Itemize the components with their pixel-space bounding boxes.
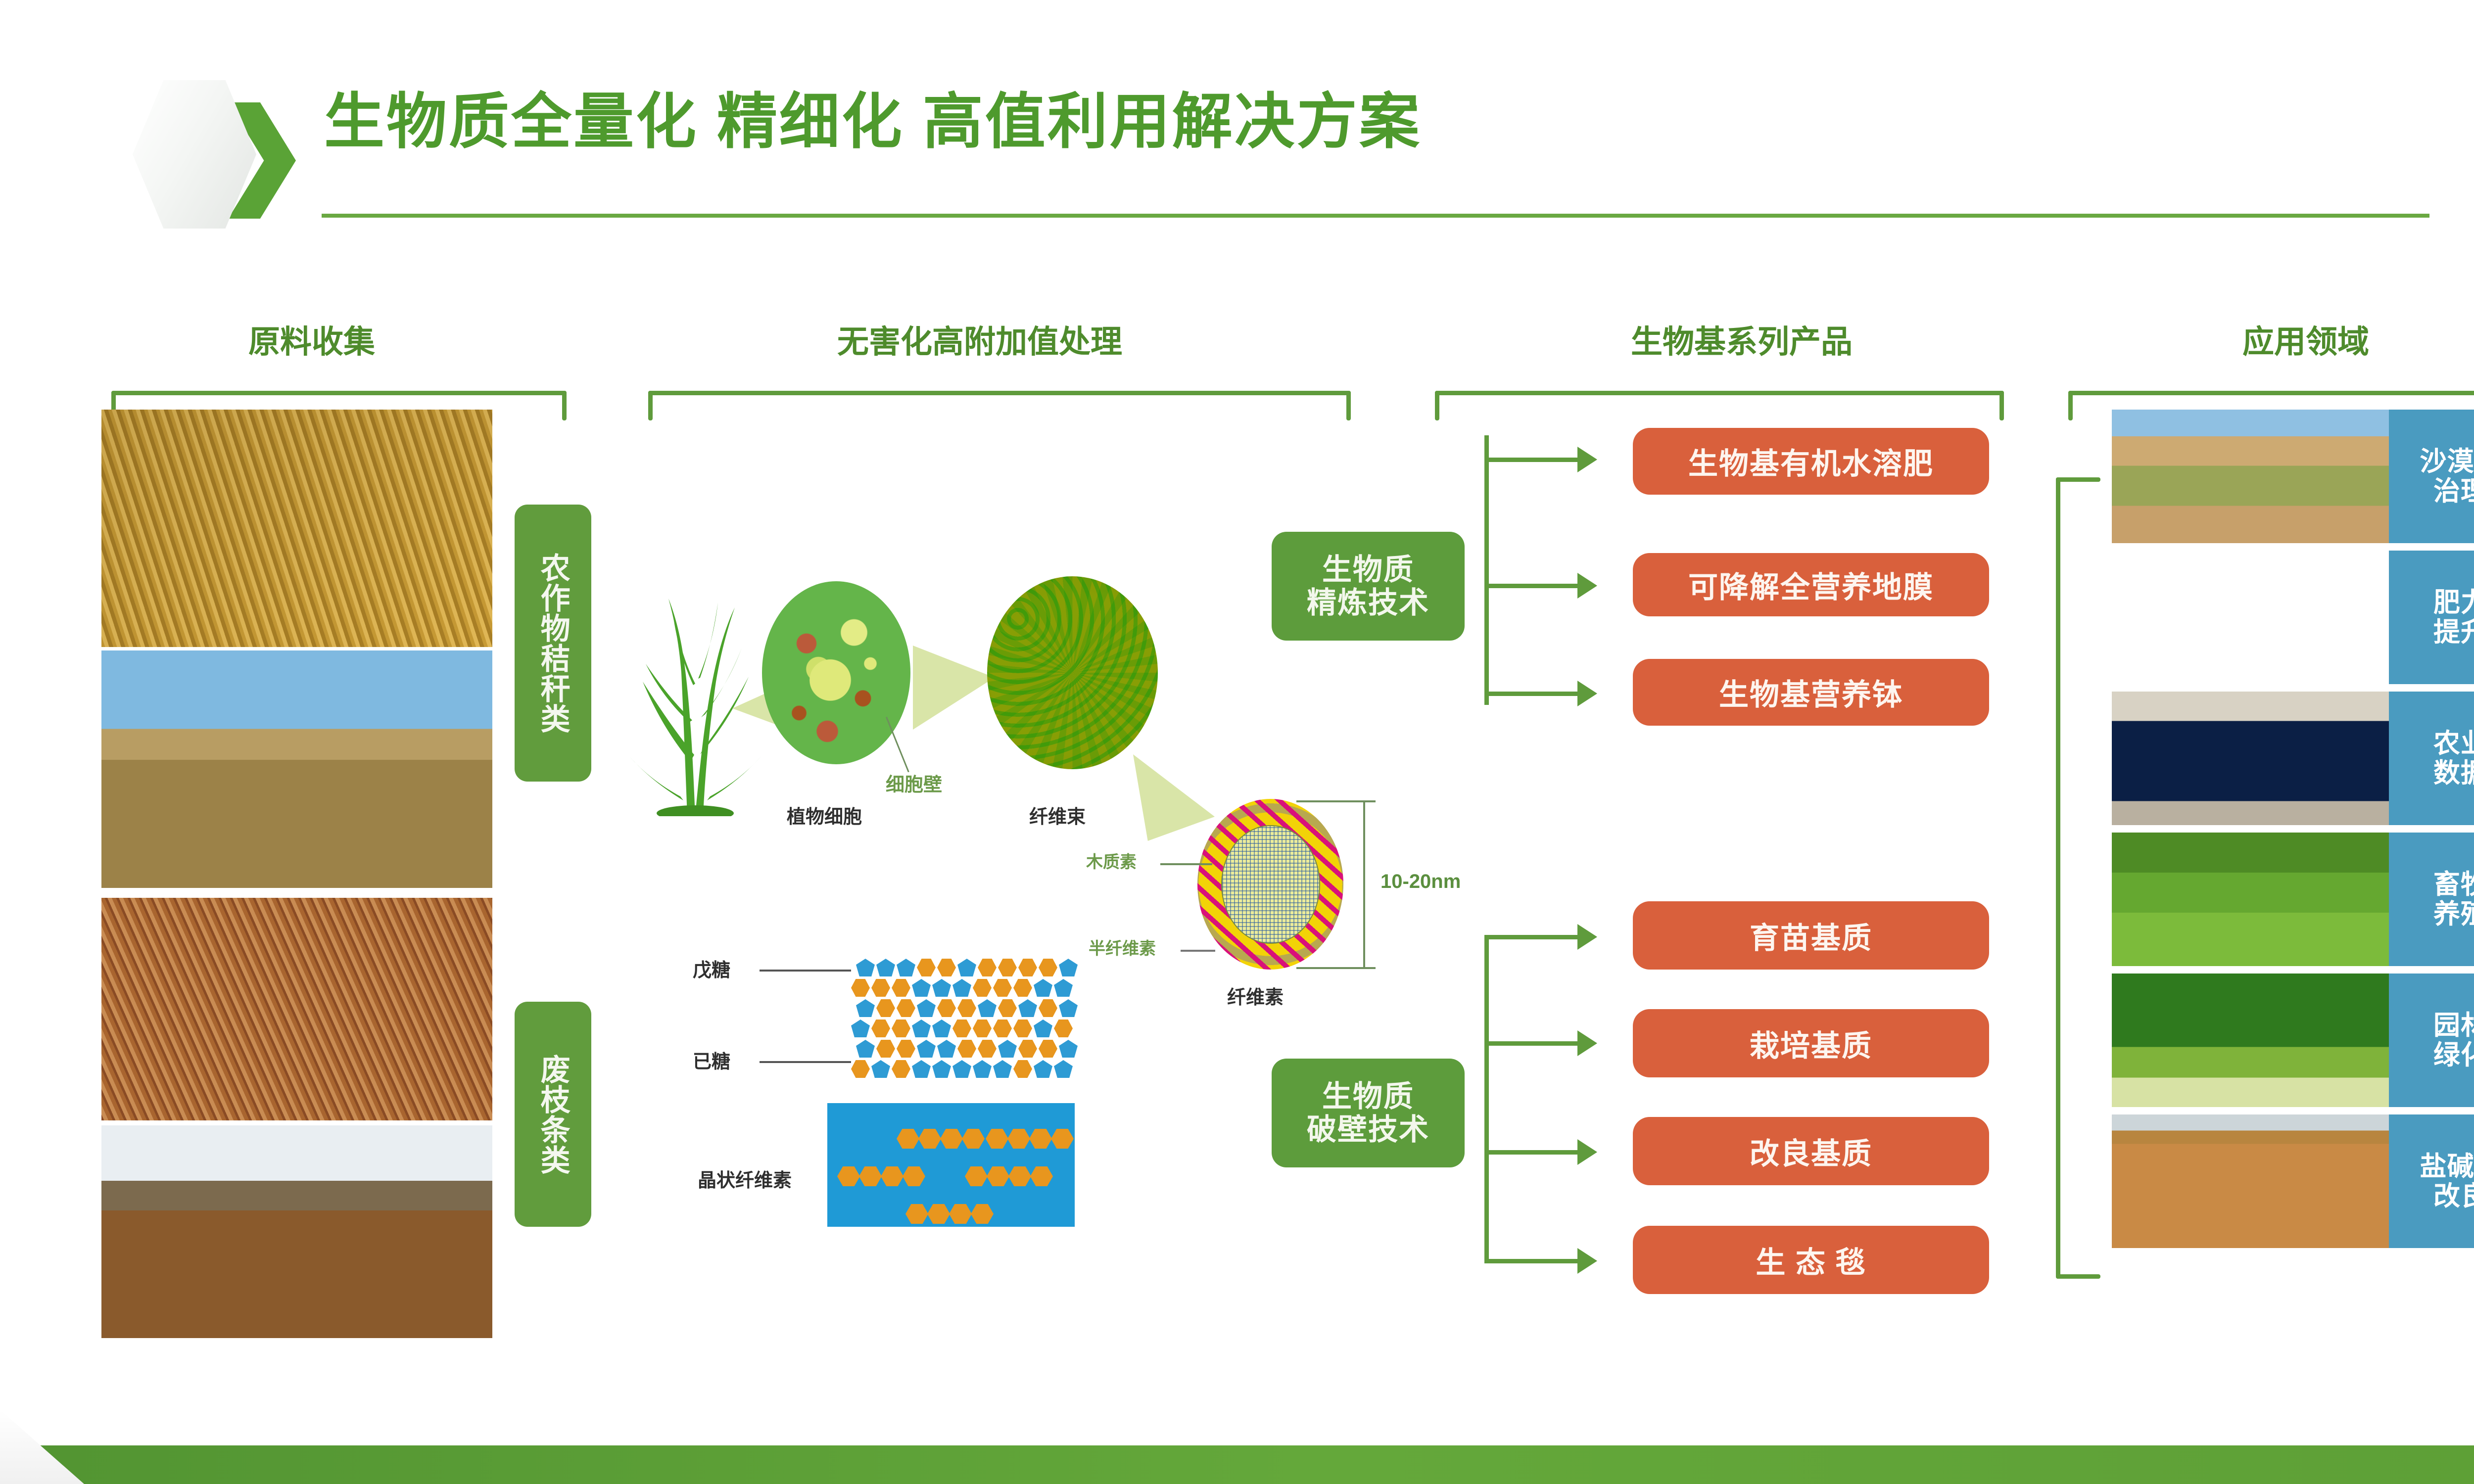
application-label-fertility[interactable]: 肥力 提升 [2389,551,2474,684]
flow-trunk-breaking [1484,935,1489,1261]
sugar-unit-icon [892,979,910,997]
application-label-line-1: 农业 [2433,729,2474,758]
sugar-chain-row [851,1060,1073,1078]
tech-box-line-2: 破壁技术 [1307,1113,1429,1146]
application-label-line-2: 改良 [2420,1181,2474,1211]
hexose-leader-line [760,1061,851,1063]
cellulose-unit-icon [905,1204,928,1224]
sugar-unit-icon [978,999,997,1017]
application-label-desert[interactable]: 沙漠化 治理 [2389,410,2474,543]
sugar-unit-icon [1034,979,1052,997]
feedstock-photo-straw-bale [101,650,492,888]
flow-arm-breaking-2 [1484,1041,1578,1046]
sugar-unit-icon [957,999,976,1017]
sugar-unit-icon [998,999,1017,1017]
sugar-unit-icon [932,979,951,997]
pentose-leader-line [760,970,851,972]
zoom-cone-3 [1133,754,1215,841]
bracket-products [1435,391,2004,420]
page-title: 生物质全量化 精细化 高值利用解决方案 [324,92,1422,152]
sugar-unit-icon [876,959,895,976]
sugar-unit-icon [932,1020,951,1037]
cellulose-unit-icon [837,1166,860,1186]
sugar-chain-row [851,979,1073,997]
sugar-unit-icon [912,979,931,997]
footer-band [0,1445,2474,1484]
sugar-unit-icon [1018,959,1037,976]
sugar-unit-icon [957,1040,976,1058]
application-label-line-2: 提升 [2433,617,2474,647]
cellulose-unit-icon [897,1129,919,1149]
product-box-improvement-substrate[interactable]: 改良基质 [1633,1117,1989,1185]
cellulose-unit-icon [1008,1166,1031,1186]
sugar-unit-icon [998,1040,1017,1058]
flow-arm-refining-3 [1484,692,1578,696]
flow-arm-refining-2 [1484,584,1578,588]
feedstock-category-waste-branches: 废枝条类 [515,1002,591,1227]
tech-box-cellwall-breaking[interactable]: 生物质 破壁技术 [1272,1059,1465,1167]
zoom-cone-2 [913,646,995,730]
crystalline-cellulose-label: 晶状纤维素 [698,1165,792,1192]
sugar-unit-icon [917,999,936,1017]
fiber-bundle-label: 纤维束 [1029,801,1086,829]
flow-arm-refining-1 [1484,458,1578,462]
hexose-label: 已糖 [693,1046,730,1073]
flow-arrow-breaking-3 [1577,1139,1597,1165]
cellulose-label: 纤维素 [1227,982,1284,1009]
sugar-unit-icon [892,1020,910,1037]
cellulose-unit-icon [927,1204,950,1224]
feedstock-photo-branches [101,898,492,1120]
sugar-unit-icon [897,959,915,976]
sugar-unit-icon [856,959,875,976]
flow-arrow-refining-1 [1577,447,1597,472]
sugar-unit-icon [917,1040,936,1058]
fiber-bundle-illustration [987,576,1158,769]
flow-arm-breaking-1 [1484,935,1578,939]
sugar-unit-icon [952,1060,971,1078]
flow-arm-breaking-4 [1484,1259,1578,1263]
sugar-unit-icon [1013,1060,1032,1078]
cellulose-unit-icon [971,1204,994,1224]
cellulose-unit-icon [1029,1129,1052,1149]
sugar-unit-icon [1054,979,1073,997]
sugar-unit-icon [1059,1040,1078,1058]
sugar-unit-icon [1039,959,1057,976]
sugar-unit-icon [851,1060,870,1078]
hemicellulose-leader-line [1181,950,1215,952]
cellulose-unit-icon [986,1129,1008,1149]
feedstock-photo-corn-stalk [101,410,492,647]
application-label-line-1: 园林 [2433,1011,2474,1040]
cellulose-unit-icon [1051,1129,1074,1149]
sugar-unit-icon [993,979,1012,997]
flow-arm-breaking-3 [1484,1150,1578,1155]
sugar-unit-icon [973,1060,992,1078]
feedstock-category-label: 农作物秸秆类 [538,553,568,734]
sugar-unit-icon [1018,999,1037,1017]
tech-box-line-2: 精炼技术 [1307,586,1429,619]
sugar-unit-icon [957,959,976,976]
sugar-unit-icon [851,979,870,997]
sugar-unit-icon [897,999,915,1017]
product-box-biodegradable-mulch[interactable]: 可降解全营养地膜 [1633,553,1989,616]
application-label-landscaping[interactable]: 园林 绿化 [2389,974,2474,1107]
sugar-unit-icon [871,1060,890,1078]
tech-box-biomass-refining[interactable]: 生物质 精炼技术 [1272,532,1465,641]
plant-illustration [621,549,769,816]
sugar-unit-icon [937,999,956,1017]
sugar-chain-row [856,1040,1078,1058]
sugar-chain-illustration [851,959,1084,1080]
flow-arrow-breaking-4 [1577,1248,1597,1274]
sugar-unit-icon [993,1020,1012,1037]
application-label-line-1: 盐碱地 [2420,1152,2474,1181]
application-label-line-2: 治理 [2420,476,2474,506]
sugar-unit-icon [937,1040,956,1058]
cellulose-unit-icon [987,1166,1009,1186]
flow-arrow-refining-3 [1577,681,1597,706]
cellulose-unit-icon [903,1166,925,1186]
title-divider [322,214,2429,218]
cellulose-unit-icon [918,1129,941,1149]
sugar-unit-icon [1059,999,1078,1017]
cellulose-core [1221,825,1320,944]
sugar-unit-icon [851,1020,870,1037]
sugar-unit-icon [998,959,1017,976]
cellulose-unit-icon [1007,1129,1030,1149]
sugar-unit-icon [912,1060,931,1078]
application-label-saline-soil[interactable]: 盐碱地 改良 [2389,1114,2474,1248]
title-bar: 生物质全量化 精细化 高值利用解决方案 [0,0,2474,242]
sugar-unit-icon [1018,1040,1037,1058]
sugar-unit-icon [1034,1020,1052,1037]
sugar-unit-icon [1059,959,1078,976]
product-box-ecological-blanket[interactable]: 生 态 毯 [1633,1226,1989,1294]
sugar-unit-icon [1013,1020,1032,1037]
sugar-unit-icon [973,1020,992,1037]
application-label-line-2: 数据 [2433,758,2474,788]
sugar-unit-icon [871,979,890,997]
sugar-unit-icon [952,1020,971,1037]
flow-arrow-breaking-1 [1577,924,1597,950]
sugar-chain-row [856,999,1078,1017]
hemicellulose-label: 半纤维素 [1089,935,1156,959]
sugar-unit-icon [856,1040,875,1058]
application-photo-saline [2112,1114,2389,1248]
sugar-unit-icon [1013,979,1032,997]
sugar-unit-icon [912,1020,931,1037]
flow-arrow-refining-2 [1577,573,1597,599]
lignin-leader-line [1160,863,1212,865]
plant-cell-illustration [762,581,910,764]
product-box-nutrient-pot[interactable]: 生物基营养钵 [1633,659,1989,726]
application-photo-garden [2112,974,2389,1107]
sugar-unit-icon [1054,1020,1073,1037]
application-label-line-2: 绿化 [2433,1040,2474,1070]
feedstock-category-crop-straw: 农作物秸秆类 [515,505,591,782]
sugar-unit-icon [876,1040,895,1058]
sugar-unit-icon [897,1040,915,1058]
application-photo-data-room [2112,692,2389,825]
application-photo-cabbage [2112,551,2389,684]
crystalline-hex-grid [827,1103,1075,1227]
cellulose-unit-icon [859,1166,882,1186]
sugar-unit-icon [917,959,936,976]
application-label-line-2: 养殖 [2433,899,2474,929]
sugar-unit-icon [876,999,895,1017]
tech-box-line-1: 生物质 [1322,1080,1414,1113]
application-label-livestock[interactable]: 畜牧 养殖 [2389,833,2474,966]
sugar-unit-icon [1039,999,1057,1017]
plant-cell-label: 植物细胞 [787,801,862,829]
application-label-agri-data[interactable]: 农业 数据 [2389,692,2474,825]
nano-scale-label: 10-20nm [1380,871,1461,893]
sugar-unit-icon [937,959,956,976]
cellulose-unit-icon [965,1166,988,1186]
cellulose-unit-icon [962,1129,985,1149]
sugar-unit-icon [892,1060,910,1078]
sugar-unit-icon [1054,1060,1073,1078]
application-label-line-1: 肥力 [2433,588,2474,617]
stage-header-applications: 应用领域 [2123,317,2474,362]
application-label-line-1: 畜牧 [2433,870,2474,899]
sugar-unit-icon [932,1060,951,1078]
product-box-seedling-substrate[interactable]: 育苗基质 [1633,901,1989,970]
cellulose-unit-icon [949,1204,972,1224]
cellulose-unit-icon [881,1166,904,1186]
stage-header-products: 生物基系列产品 [1450,317,2034,362]
sugar-unit-icon [978,959,997,976]
sugar-unit-icon [1034,1060,1052,1078]
hexagon-logo [133,80,296,229]
sugar-unit-icon [1039,1040,1057,1058]
feedstock-photo-vineyard-pruning [101,1125,492,1338]
sugar-chain-row [851,1020,1073,1037]
application-label-line-1: 沙漠化 [2420,447,2474,476]
feedstock-category-label: 废枝条类 [538,1054,568,1175]
sugar-unit-icon [871,1020,890,1037]
pentose-label: 戊糖 [693,955,730,982]
sugar-unit-icon [856,999,875,1017]
application-photo-desert [2112,410,2389,543]
sugar-unit-icon [952,979,971,997]
scale-line-vertical [1363,800,1365,969]
sugar-unit-icon [993,1060,1012,1078]
flow-trunk-refining [1484,435,1489,705]
stage-header-processing: 无害化高附加值处理 [678,317,1282,362]
sugar-unit-icon [973,979,992,997]
application-photo-sheep [2112,833,2389,966]
lignin-label: 木质素 [1086,848,1137,873]
product-box-organic-fertilizer[interactable]: 生物基有机水溶肥 [1633,428,1989,495]
tech-box-line-1: 生物质 [1322,553,1414,586]
bracket-processing [648,391,1351,420]
cellulose-unit-icon [1030,1166,1053,1186]
cellulose-unit-icon [940,1129,963,1149]
cell-wall-leader-line [886,717,909,772]
bracket-application-group [2056,477,2100,1279]
sugar-unit-icon [978,1040,997,1058]
sugar-chain-row [856,959,1078,976]
product-box-cultivation-substrate[interactable]: 栽培基质 [1633,1009,1989,1077]
flow-arrow-breaking-2 [1577,1030,1597,1056]
cell-wall-label: 细胞壁 [886,769,942,796]
stage-header-feedstock: 原料收集 [148,317,475,362]
